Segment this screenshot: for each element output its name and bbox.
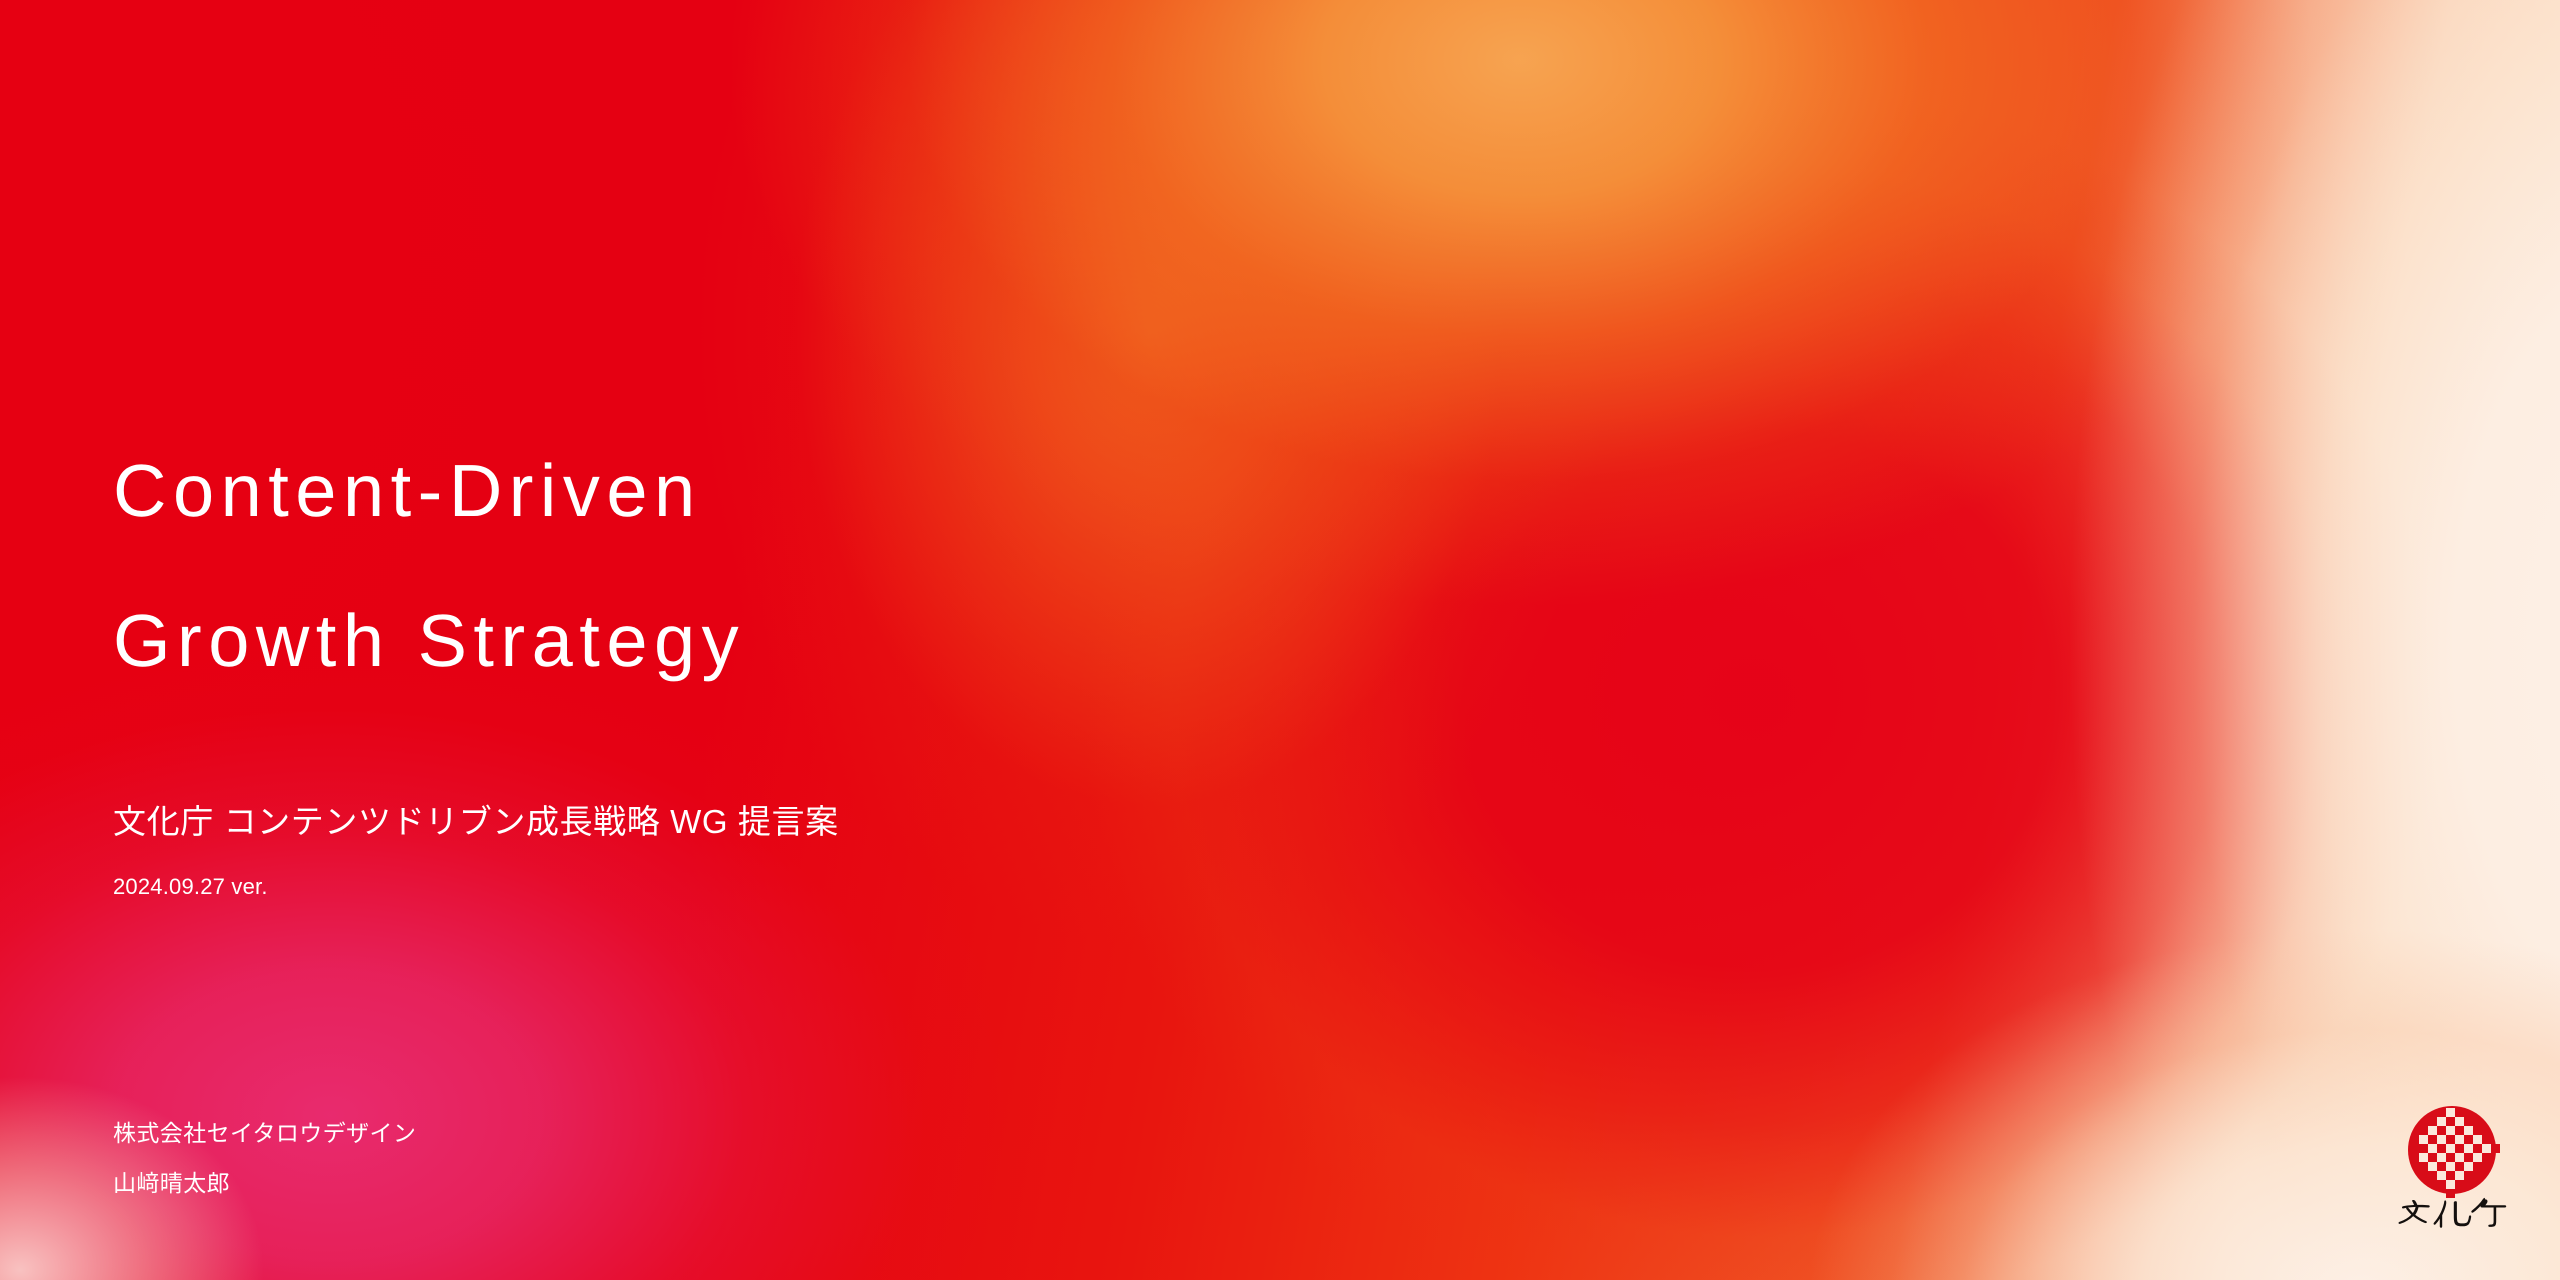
logo-wordmark <box>2399 1198 2507 1228</box>
title-line-1: Content-Driven <box>113 416 745 566</box>
bunka-cho-logo-svg <box>2392 1104 2522 1240</box>
bunka-cho-logo <box>2392 1104 2522 1240</box>
page-title: Content-Driven Growth Strategy <box>113 416 745 716</box>
subtitle: 文化庁 コンテンツドリブン成長戦略 WG 提言案 <box>113 800 839 844</box>
credits-block: 株式会社セイタロウデザイン 山﨑晴太郎 <box>113 1108 416 1208</box>
slide-content: Content-Driven Growth Strategy 文化庁 コンテンツ… <box>0 0 2560 1280</box>
credit-author: 山﨑晴太郎 <box>113 1158 416 1208</box>
credit-company: 株式会社セイタロウデザイン <box>113 1108 416 1158</box>
version-label: 2024.09.27 ver. <box>113 872 268 902</box>
title-slide: Content-Driven Growth Strategy 文化庁 コンテンツ… <box>0 0 2560 1280</box>
title-line-2: Growth Strategy <box>113 566 745 716</box>
